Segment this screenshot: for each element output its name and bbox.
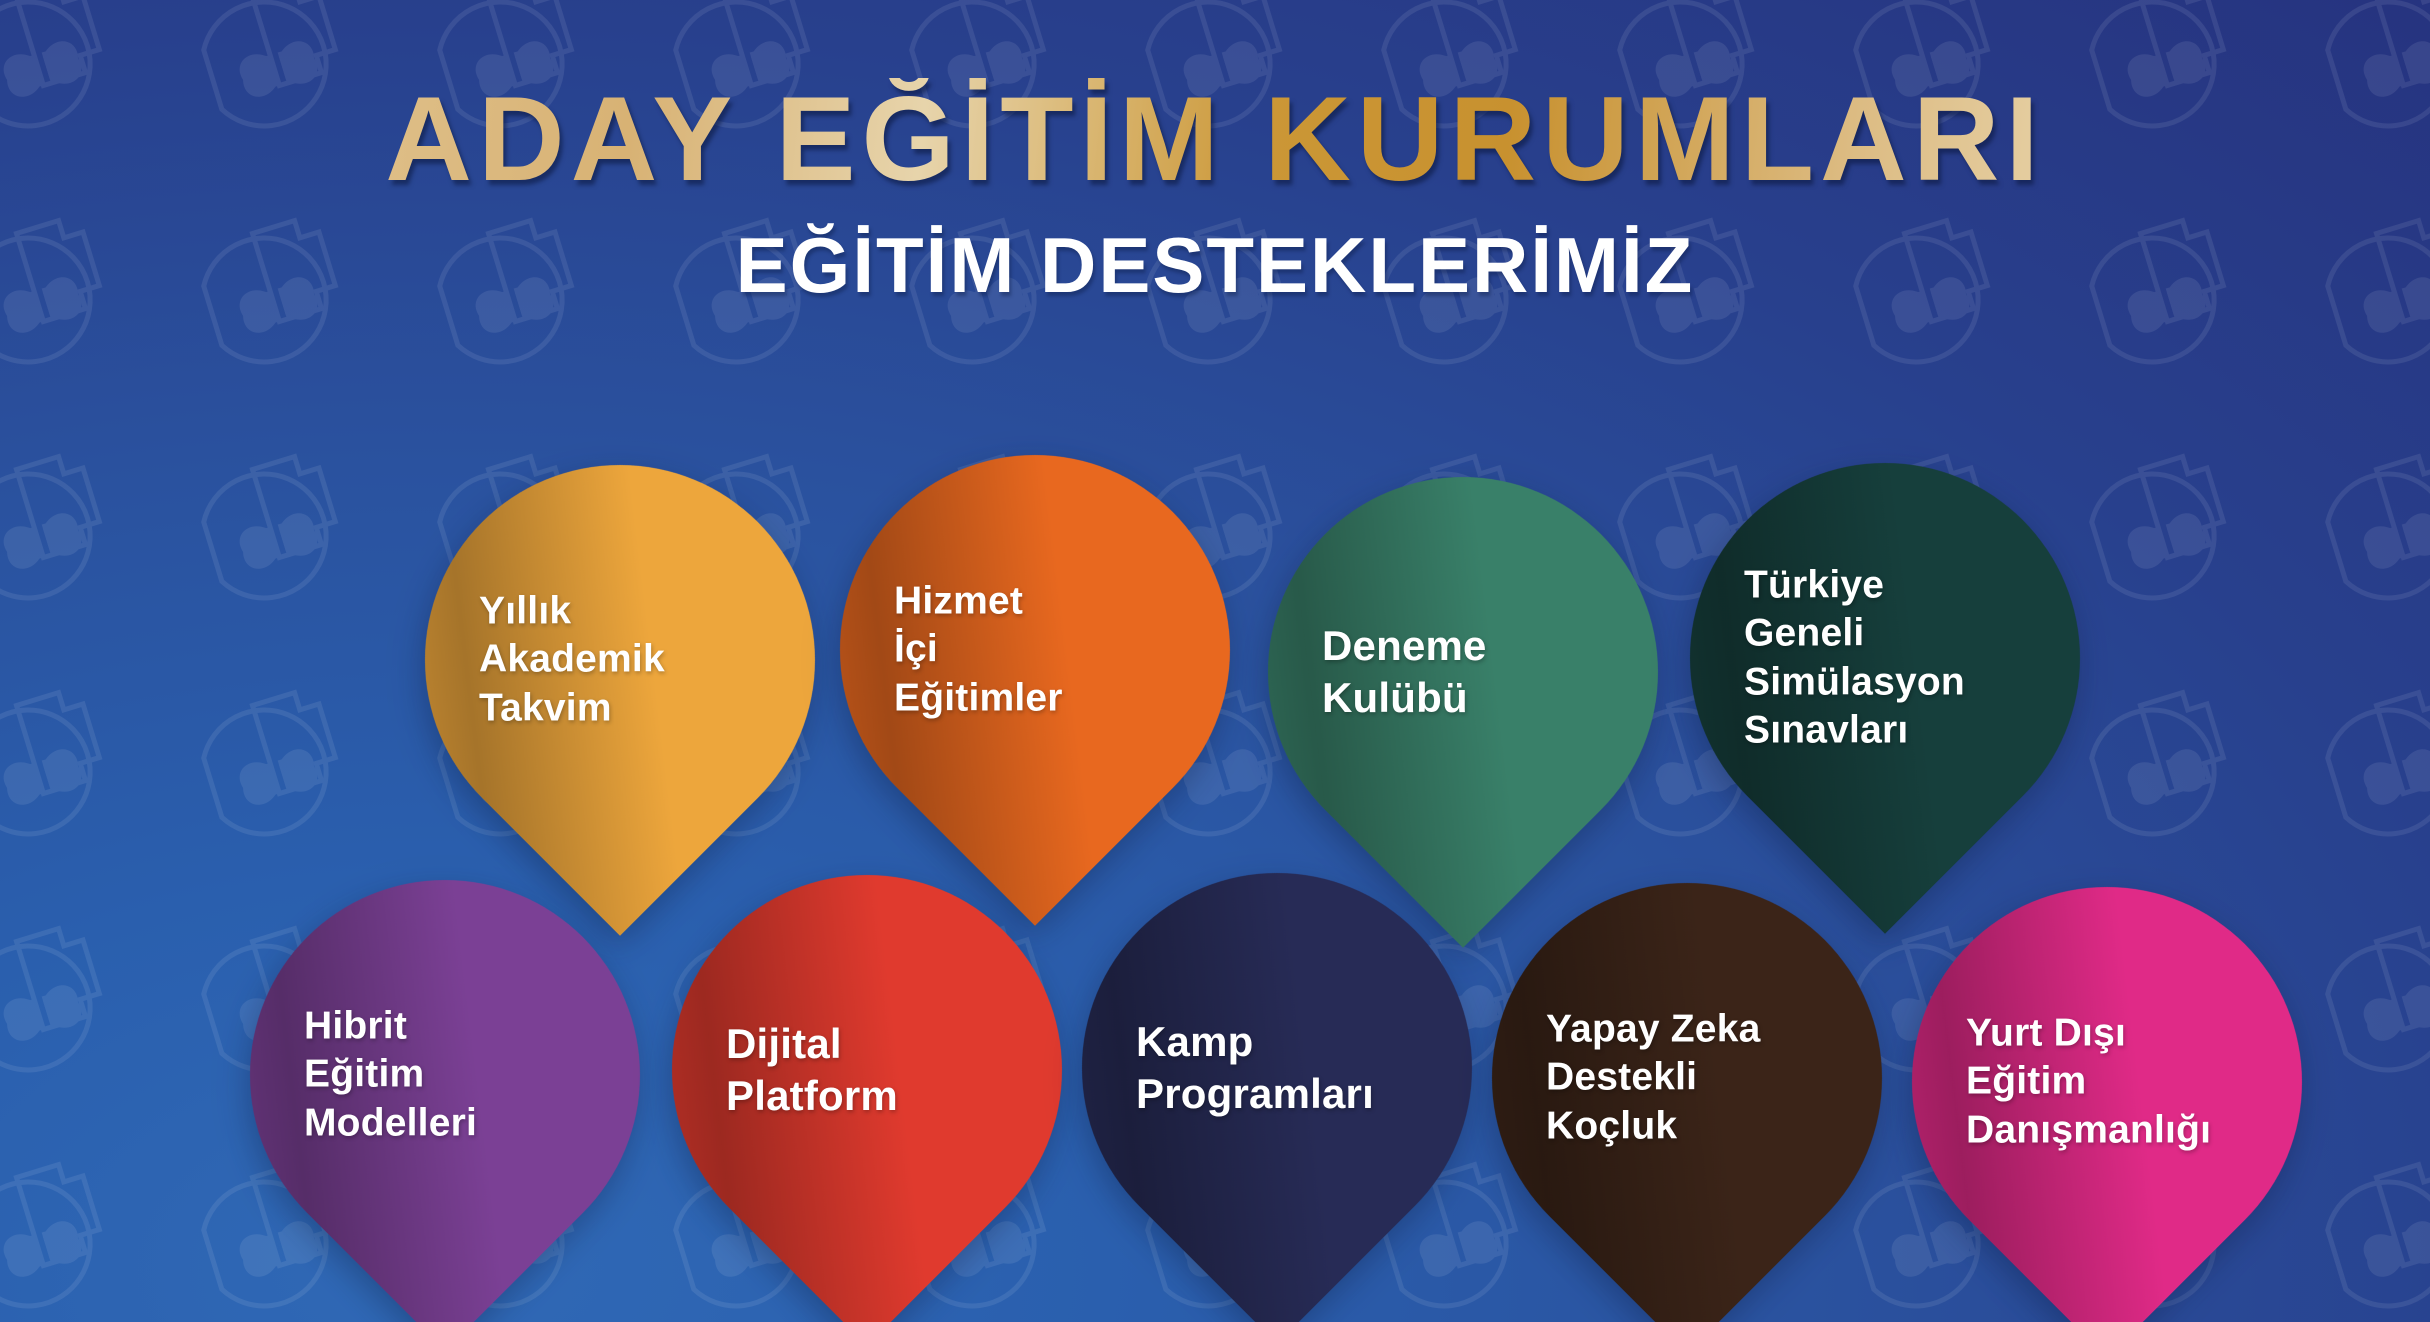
poster-canvas: ADAY EĞİTİM KURUMLARI EĞİTİM DESTEKLERİM… [0, 0, 2430, 1322]
pin-yurt-disi-egitim-danismanligi[interactable]: Yurt Dışı Eğitim Danışmanlığı [1912, 887, 2302, 1277]
heading-block: ADAY EĞİTİM KURUMLARI EĞİTİM DESTEKLERİM… [0, 78, 2430, 311]
page-subtitle: EĞİTİM DESTEKLERİMİZ [0, 220, 2430, 311]
pin-hibrit-egitim-modelleri[interactable]: Hibrit Eğitim Modelleri [250, 880, 640, 1270]
pin-label: Dijital Platform [726, 1018, 1028, 1122]
pin-yillik-akademik-takvim[interactable]: Yıllık Akademik Takvim [425, 465, 815, 855]
pin-label: Türkiye Geneli Simülasyon Sınavları [1744, 561, 2046, 754]
pin-label: Hibrit Eğitim Modelleri [304, 1002, 606, 1147]
pin-yapay-zeka-destekli-kocluk[interactable]: Yapay Zeka Destekli Koçluk [1492, 883, 1882, 1273]
pin-label: Hizmet İçi Eğitimler [894, 577, 1196, 722]
pin-label: Yapay Zeka Destekli Koçluk [1546, 1005, 1848, 1150]
pin-deneme-kulubu[interactable]: Deneme Kulübü [1268, 477, 1658, 867]
pin-label: Kamp Programları [1136, 1016, 1438, 1120]
pin-dijital-platform[interactable]: Dijital Platform [672, 875, 1062, 1265]
pin-hizmet-ici-egitimler[interactable]: Hizmet İçi Eğitimler [840, 455, 1230, 845]
pin-label: Yıllık Akademik Takvim [479, 587, 781, 732]
pin-label: Yurt Dışı Eğitim Danışmanlığı [1966, 1009, 2268, 1154]
support-pins-grid: Yıllık Akademik Takvim Hizmet İçi Eğitim… [0, 455, 2430, 1322]
pin-label: Deneme Kulübü [1322, 620, 1624, 724]
page-title: ADAY EĞİTİM KURUMLARI [0, 78, 2430, 200]
pin-turkiye-geneli-simulasyon[interactable]: Türkiye Geneli Simülasyon Sınavları [1690, 463, 2080, 853]
pin-kamp-programlari[interactable]: Kamp Programları [1082, 873, 1472, 1263]
